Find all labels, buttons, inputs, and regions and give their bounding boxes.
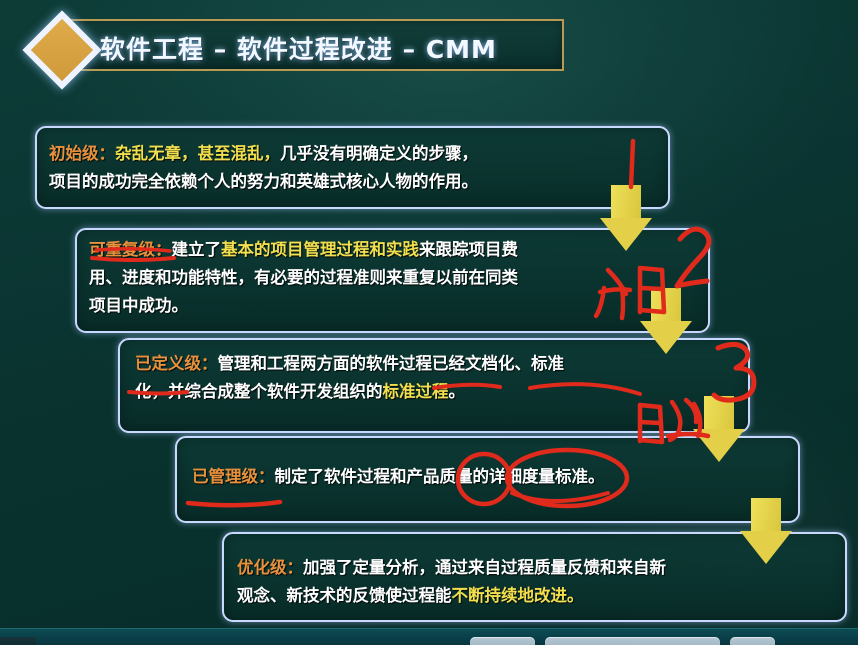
arrow-head [740, 531, 792, 564]
level-seg-highlight: 杂乱无章，甚至混乱， [115, 144, 280, 163]
level-label: 已管理级： [192, 467, 275, 486]
level-line2-highlight: 标准过程 [383, 382, 449, 401]
level-line2-seg-3: 。 [449, 382, 466, 401]
arrow-shaft [651, 288, 681, 322]
level-line-1: 初始级：杂乱无章，甚至混乱，几乎没有明确定义的步骤， [49, 140, 478, 168]
down-arrow-icon-3 [693, 396, 745, 464]
toolbar-button-2[interactable] [545, 637, 720, 645]
level-line-2: 化，并综合成整个软件开发组织的标准过程。 [135, 378, 564, 406]
arrow-shaft [611, 185, 641, 219]
level-line-2: 项目的成功完全依赖个人的努力和英雄式核心人物的作用。 [49, 168, 478, 196]
level-seg-highlight: 基本的项目管理过程和实践 [221, 240, 419, 259]
arrow-head [600, 218, 652, 251]
level-line-2: 用、进度和功能特性，有必要的过程准则来重复以前在同类 [89, 264, 518, 292]
level-text-optimizing: 优化级：加强了定量分析，通过来自过程质量反馈和来自新 观念、新技术的反馈使过程能… [237, 554, 666, 610]
level-line3-text: 项目中成功。 [89, 296, 188, 315]
arrow-shaft [704, 396, 734, 430]
level-label: 优化级： [237, 558, 303, 577]
level-seg-body: 管理和工程两方面的软件过程已经文档化、标准 [218, 354, 565, 373]
level-text-managed: 已管理级：制定了软件过程和产品质量的详细度量标准。 [192, 463, 605, 491]
page-title: 软件工程 – 软件过程改进 – CMM [100, 30, 560, 66]
level-line-1: 已定义级：管理和工程两方面的软件过程已经文档化、标准 [135, 350, 564, 378]
level-line-1: 可重复级：建立了基本的项目管理过程和实践来跟踪项目费 [89, 236, 518, 264]
level-line2-seg-1: 化，并综合成整个软件开发组织的 [135, 382, 383, 401]
level-seg-body: 制定了软件过程和产品质量的详细度量标准。 [275, 467, 605, 486]
level-text-defined: 已定义级：管理和工程两方面的软件过程已经文档化、标准 化，并综合成整个软件开发组… [135, 350, 564, 406]
level-line2-text: 项目的成功完全依赖个人的努力和英雄式核心人物的作用。 [49, 172, 478, 191]
down-arrow-icon-1 [600, 185, 652, 253]
level-seg-body: 建立了 [172, 240, 222, 259]
toolbar-button-3[interactable] [730, 637, 775, 645]
arrow-head [640, 321, 692, 354]
level-line-1: 已管理级：制定了软件过程和产品质量的详细度量标准。 [192, 463, 605, 491]
level-text-initial: 初始级：杂乱无章，甚至混乱，几乎没有明确定义的步骤， 项目的成功完全依赖个人的努… [49, 140, 478, 196]
level-seg-body-2: 来跟踪项目费 [419, 240, 518, 259]
level-line2-text: 用、进度和功能特性，有必要的过程准则来重复以前在同类 [89, 268, 518, 287]
slide-canvas: 软件工程 – 软件过程改进 – CMM 初始级：杂乱无章，甚至混乱，几乎没有明确… [0, 0, 858, 645]
level-seg-body: 加强了定量分析，通过来自过程质量反馈和来自新 [303, 558, 666, 577]
level-line2-seg-1: 观念、新技术的反馈使过程能 [237, 586, 452, 605]
arrow-shaft [751, 498, 781, 532]
slide-title-block: 软件工程 – 软件过程改进 – CMM [16, 12, 564, 78]
level-label: 可重复级： [89, 240, 172, 259]
arrow-head [693, 429, 745, 462]
level-line-2: 观念、新技术的反馈使过程能不断持续地改进。 [237, 582, 666, 610]
level-line-3: 项目中成功。 [89, 292, 518, 320]
level-line2-highlight: 不断持续地改进。 [452, 586, 584, 605]
level-text-repeatable: 可重复级：建立了基本的项目管理过程和实践来跟踪项目费 用、进度和功能特性，有必要… [89, 236, 518, 320]
level-label: 已定义级： [135, 354, 218, 373]
bottom-toolbar[interactable] [0, 628, 858, 645]
down-arrow-icon-4 [740, 498, 792, 566]
toolbar-button-1[interactable] [470, 637, 535, 645]
down-arrow-icon-2 [640, 288, 692, 356]
level-seg-body: 几乎没有明确定义的步骤， [280, 144, 478, 163]
level-label: 初始级： [49, 144, 115, 163]
level-line-1: 优化级：加强了定量分析，通过来自过程质量反馈和来自新 [237, 554, 666, 582]
taskbar-left-chip[interactable] [0, 637, 36, 645]
